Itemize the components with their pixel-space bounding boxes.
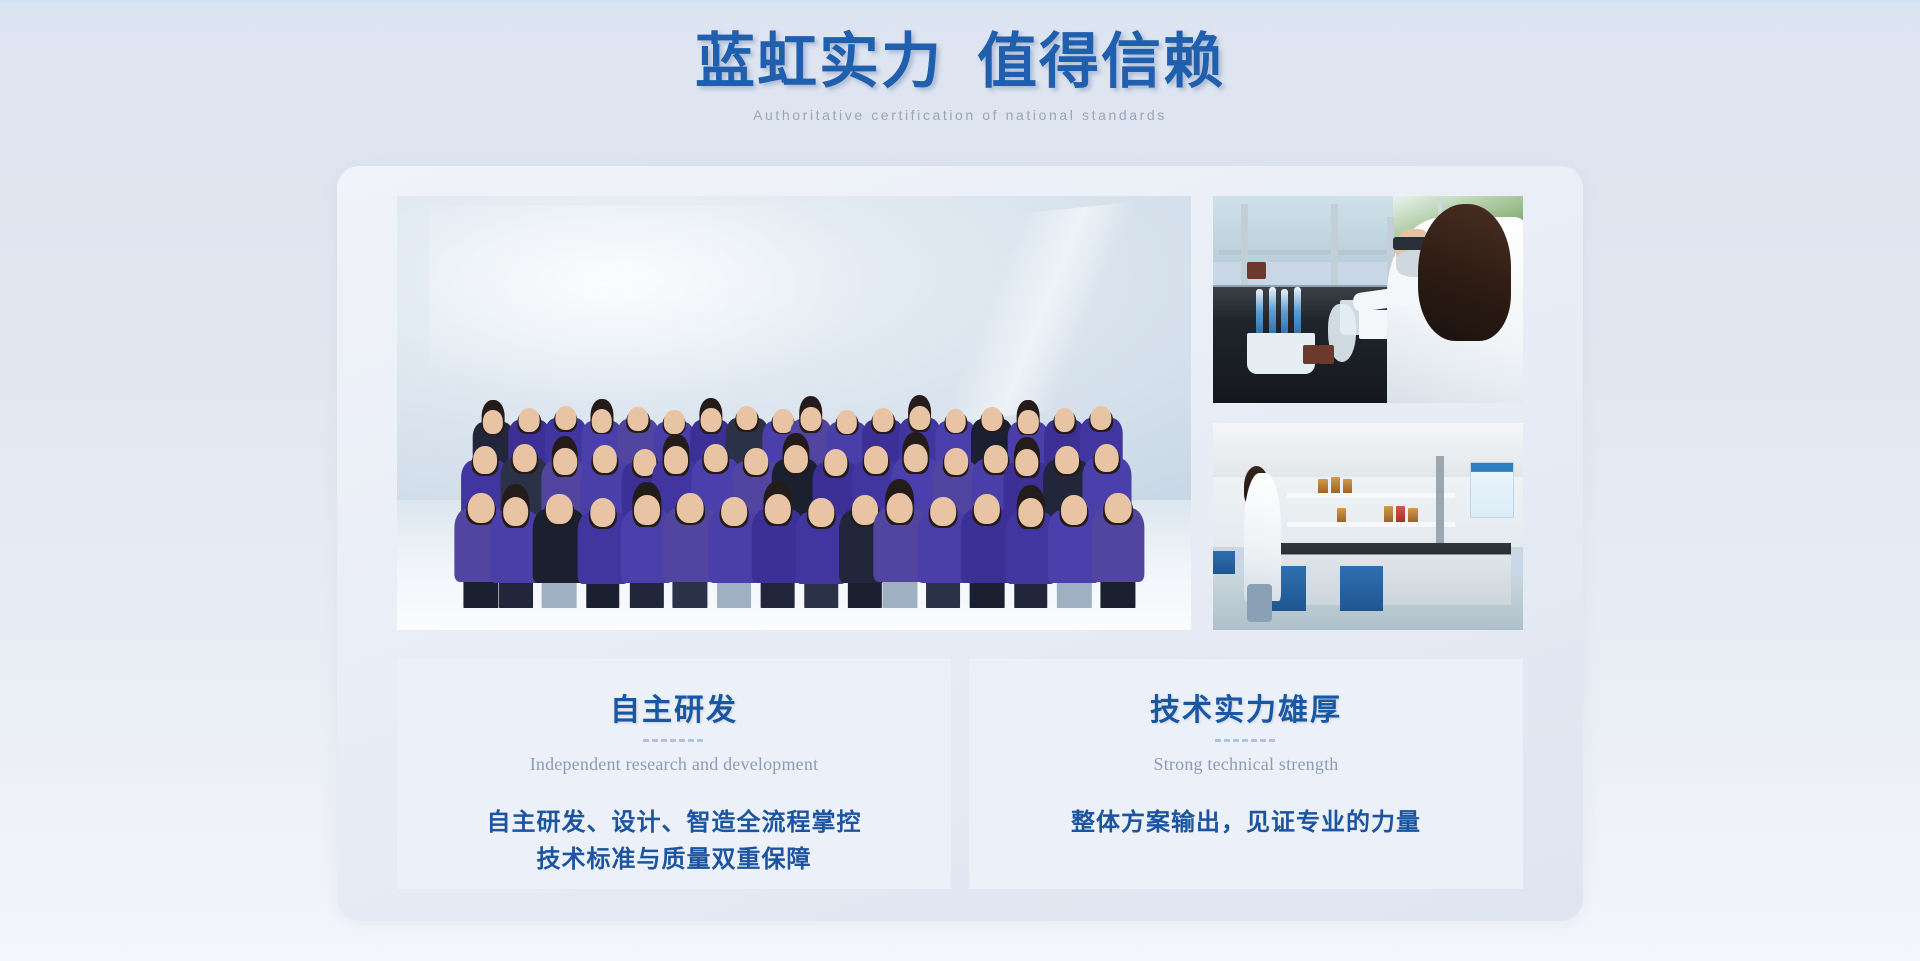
team-member-head	[784, 445, 808, 473]
feature-english-subtitle: Strong technical strength	[969, 754, 1523, 775]
team-member-head	[1018, 498, 1043, 527]
team-member-head	[513, 444, 537, 472]
team-member-head	[721, 497, 747, 527]
lab-b-bottle-4	[1337, 508, 1346, 522]
feature-description-line: 整体方案输出，见证专业的力量	[969, 805, 1523, 842]
lab-a-post-mid	[1331, 204, 1338, 287]
team-member-head	[590, 498, 615, 527]
team-photo-crowd	[397, 366, 1191, 616]
team-member-head	[634, 495, 660, 525]
team-member-head	[930, 497, 956, 527]
feature-description: 自主研发、设计、智造全流程掌控 技术标准与质量双重保障	[397, 805, 951, 879]
team-member-head	[944, 448, 968, 475]
team-member-head	[974, 494, 1000, 524]
lab-b-lower-shelf	[1287, 522, 1454, 527]
lab-a-reagent-bottle-3	[1247, 262, 1266, 279]
team-member-head	[1055, 446, 1079, 474]
team-member-head	[546, 494, 572, 524]
team-member-head	[904, 444, 928, 472]
lab-a-pipette-1	[1256, 289, 1263, 335]
feature-cards-row: 自主研发 Independent research and developmen…	[397, 659, 1523, 889]
lab-b-person-coat	[1244, 473, 1281, 601]
lab-a-pipette-3	[1281, 289, 1288, 335]
lab-b-bottle-2	[1331, 477, 1340, 494]
team-member-head	[503, 497, 529, 527]
lab-a-reagent-bottle-1	[1303, 345, 1319, 364]
feature-description-line: 技术标准与质量双重保障	[397, 842, 951, 879]
team-group-photo[interactable]	[397, 196, 1191, 630]
feature-description: 整体方案输出，见证专业的力量	[969, 805, 1523, 842]
team-member-head	[764, 494, 790, 524]
team-member-head	[553, 448, 577, 475]
lab-b-upper-shelf	[1287, 493, 1454, 498]
team-member-head	[593, 445, 617, 473]
feature-title: 自主研发	[397, 685, 951, 729]
lab-a-reagent-bottle-2	[1318, 345, 1334, 364]
team-member-head	[1015, 449, 1038, 476]
team-member-head	[628, 407, 649, 431]
photo-gallery	[397, 196, 1523, 630]
team-member-head	[1095, 444, 1119, 472]
lab-b-bottle-6	[1396, 506, 1405, 523]
team-member-head	[1105, 493, 1132, 524]
lab-b-cabinet-3	[1213, 551, 1235, 574]
team-member-head	[886, 493, 913, 524]
lab-b-safety-poster	[1470, 462, 1513, 518]
lab-b-bottle-5	[1384, 506, 1393, 523]
team-member-head	[555, 406, 576, 431]
feature-title: 技术实力雄厚	[969, 685, 1523, 729]
lab-a-shelf-rail	[1219, 250, 1411, 255]
dotted-divider-icon	[1215, 739, 1277, 742]
lab-room-photo[interactable]	[1213, 423, 1523, 630]
lab-b-bottle-7	[1408, 508, 1417, 522]
page-title: 蓝虹实力 值得信赖	[0, 28, 1920, 97]
team-member-head	[677, 493, 704, 524]
lab-b-bottle-1	[1318, 479, 1327, 493]
team-member-head	[809, 498, 834, 527]
page-subtitle: Authoritative certification of national …	[0, 107, 1920, 123]
page-header: 蓝虹实力 值得信赖 Authoritative certification of…	[0, 0, 1920, 123]
lab-a-pipette-4	[1294, 287, 1301, 335]
team-member-head	[824, 449, 847, 476]
feature-english-subtitle: Independent research and development	[397, 754, 951, 775]
content-container: 自主研发 Independent research and developmen…	[337, 166, 1583, 921]
feature-card-technical-strength[interactable]: 技术实力雄厚 Strong technical strength 整体方案输出，…	[969, 659, 1523, 889]
lab-technician-photo[interactable]	[1213, 196, 1523, 403]
lab-a-pipette-2	[1269, 287, 1276, 335]
lab-b-cabinet-2	[1340, 566, 1383, 612]
team-member-figure	[1091, 471, 1144, 608]
team-member-head	[744, 448, 768, 475]
lab-b-person-jeans	[1247, 584, 1272, 621]
lab-a-technician-hair	[1418, 204, 1511, 341]
feature-description-line: 自主研发、设计、智造全流程掌控	[397, 805, 951, 842]
feature-card-independent-rd[interactable]: 自主研发 Independent research and developmen…	[397, 659, 951, 889]
lab-b-shelf-post	[1436, 456, 1444, 555]
dotted-divider-icon	[643, 739, 705, 742]
team-member-head	[704, 444, 728, 472]
team-member-head	[1061, 495, 1087, 525]
lab-b-bottle-3	[1343, 479, 1352, 493]
